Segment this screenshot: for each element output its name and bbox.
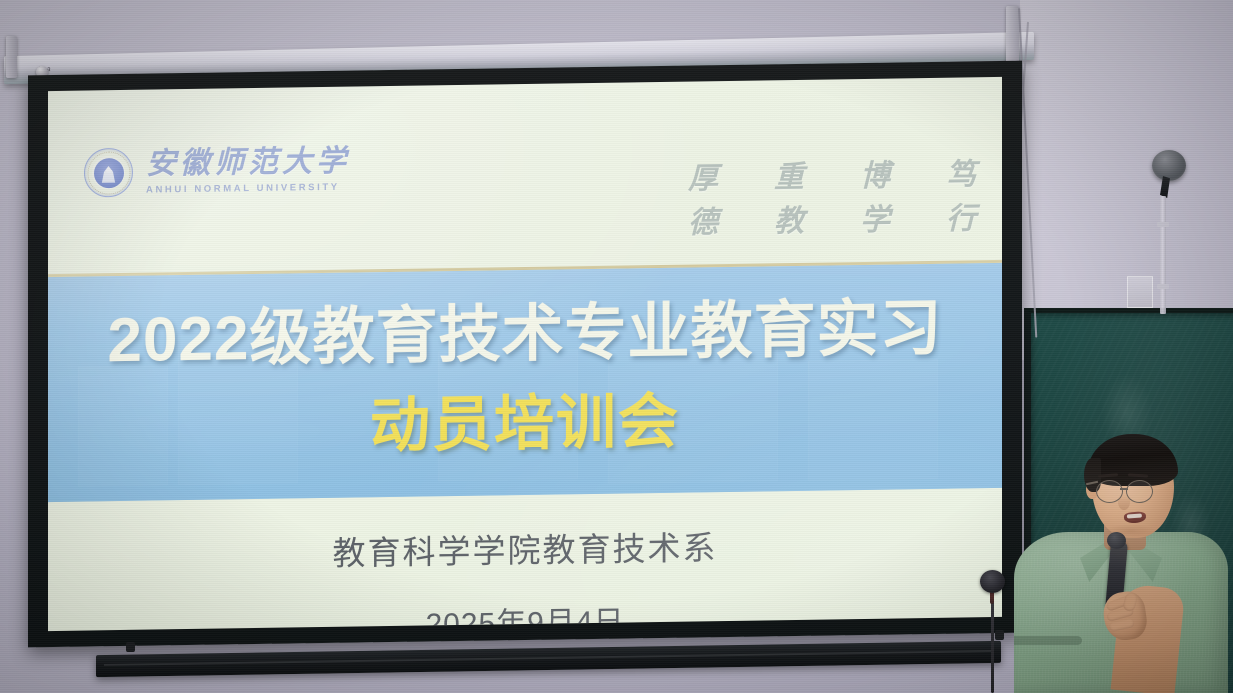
- university-name-en: ANHUI NORMAL UNIVERSITY: [146, 181, 350, 195]
- motto-word-4: 笃行: [946, 149, 1002, 238]
- glasses-lens-right: [1126, 480, 1153, 503]
- presenter: [1008, 428, 1233, 693]
- lecture-hall-photo: Lea 安徽师范大学 ANHUI: [0, 0, 1233, 693]
- wall-speaker-icon: [1152, 150, 1186, 181]
- slide-header: 安徽师范大学 ANHUI NORMAL UNIVERSITY 厚德 重教 博学 …: [48, 77, 1002, 276]
- motto-word-1: 厚德: [688, 153, 744, 242]
- organization-name: 教育科学学院教育技术系: [48, 517, 1002, 579]
- presenter-hair: [1088, 434, 1178, 486]
- pipe-joint-lower: [1157, 284, 1169, 289]
- pipe-joint-upper: [1157, 222, 1169, 227]
- screen-bracket-left: [6, 36, 17, 78]
- motto-word-3: 博学: [860, 150, 916, 239]
- slide-footer: 教育科学学院教育技术系 2025年9月4日: [48, 517, 1002, 631]
- university-logo: 安徽师范大学 ANHUI NORMAL UNIVERSITY: [84, 145, 350, 198]
- university-motto: 厚德 重教 博学 笃行: [688, 149, 1002, 242]
- motto-word-2: 重教: [774, 151, 830, 240]
- wall-outlet-box: [1127, 276, 1153, 308]
- shirt-sleeve-hem: [1014, 636, 1082, 645]
- university-name-cn: 安徽师范大学: [146, 146, 350, 179]
- university-seal-icon: [84, 148, 133, 198]
- presenter-nose: [1118, 494, 1130, 510]
- slide-title-main: 2022级教育技术专业教育实习: [48, 297, 1002, 373]
- projection-screen-canvas: 安徽师范大学 ANHUI NORMAL UNIVERSITY 厚德 重教 博学 …: [48, 77, 1002, 631]
- presentation-slide: 安徽师范大学 ANHUI NORMAL UNIVERSITY 厚德 重教 博学 …: [48, 77, 1002, 631]
- screen-bar-clip-left: [126, 642, 135, 652]
- screen-bar-clip-right: [995, 630, 1004, 640]
- glasses-bridge: [1120, 488, 1128, 490]
- microphone-head-icon: [980, 570, 1005, 593]
- presentation-date: 2025年9月4日: [48, 591, 1002, 631]
- speaker-conduit-pipe: [1160, 196, 1166, 314]
- title-banner: 2022级教育技术专业教育实习 动员培训会: [48, 263, 1002, 502]
- projection-screen-frame: 安徽师范大学 ANHUI NORMAL UNIVERSITY 厚德 重教 博学 …: [28, 61, 1022, 648]
